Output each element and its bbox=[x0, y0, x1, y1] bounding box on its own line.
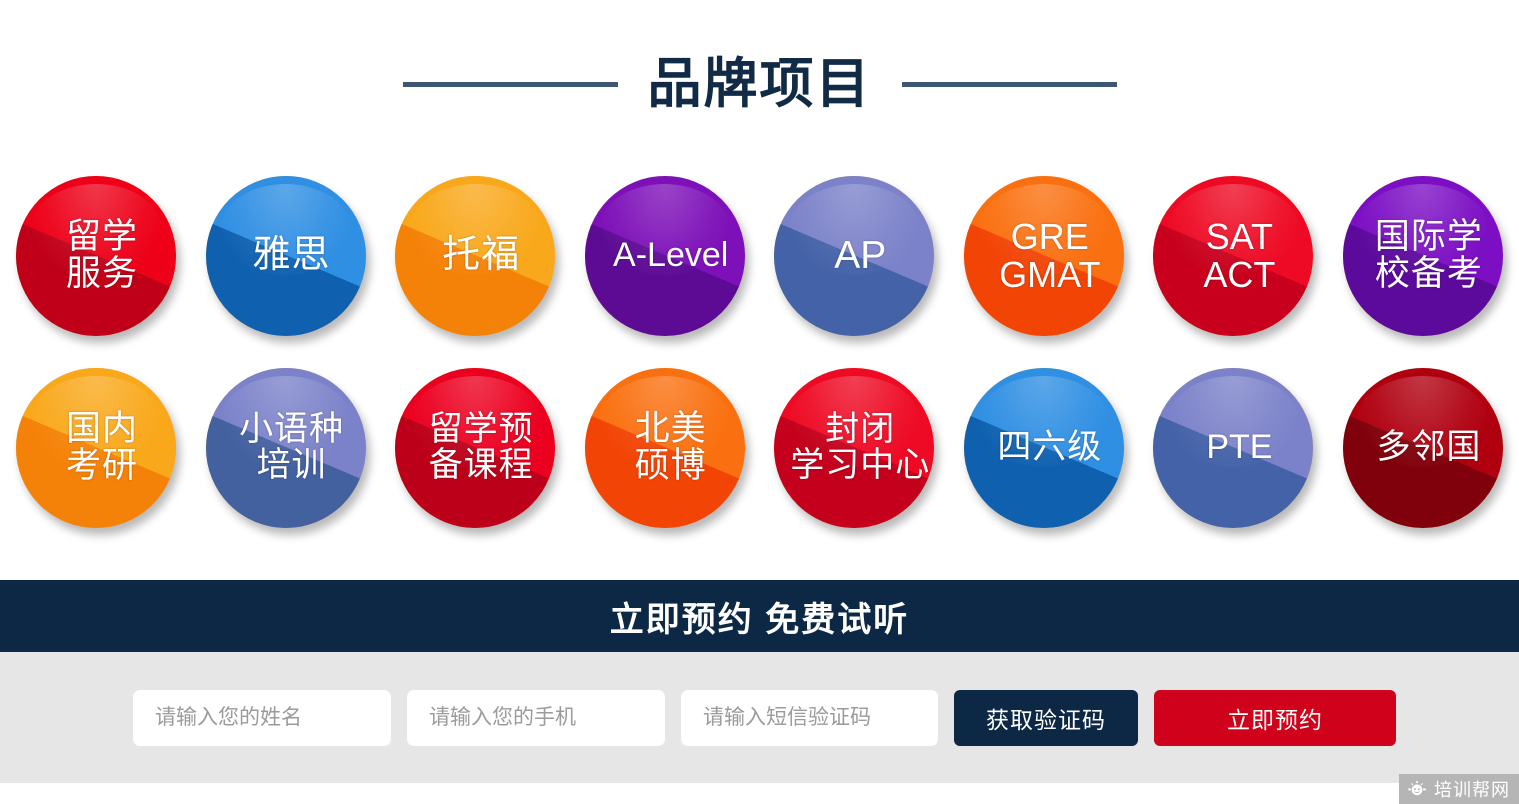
program-bubble-xiaoyuzhong-peixun[interactable]: 小语种培训 bbox=[206, 368, 366, 528]
program-label-line: 学习中心 bbox=[790, 448, 930, 484]
watermark-text: 培训帮网 bbox=[1434, 776, 1510, 802]
program-bubble-yasi[interactable]: 雅思 bbox=[206, 176, 366, 336]
program-cell: 国际学校备考 bbox=[1333, 166, 1513, 346]
program-label: PTE bbox=[1206, 430, 1272, 466]
program-bubble-si-liu-ji[interactable]: 四六级 bbox=[964, 368, 1124, 528]
program-label: 国内考研 bbox=[66, 411, 138, 485]
page-title: 品牌项目 bbox=[648, 57, 872, 111]
program-label-line: 封闭 bbox=[790, 412, 930, 448]
program-cell: 雅思 bbox=[196, 166, 376, 346]
program-cell: 留学服务 bbox=[6, 166, 186, 346]
program-cell: GREGMAT bbox=[954, 166, 1134, 346]
program-bubble-guonei-kaoyan[interactable]: 国内考研 bbox=[16, 368, 176, 528]
program-label-line: 小语种 bbox=[239, 412, 344, 448]
program-label: SATACT bbox=[1203, 218, 1275, 294]
program-cell: 封闭学习中心 bbox=[764, 358, 944, 538]
program-cell: 多邻国 bbox=[1333, 358, 1513, 538]
sun-face-icon bbox=[1407, 779, 1427, 799]
program-label-line: 备课程 bbox=[429, 448, 534, 484]
program-label: A-Level bbox=[613, 238, 728, 274]
program-label: 多邻国 bbox=[1376, 430, 1481, 466]
watermark: 培训帮网 bbox=[1399, 774, 1519, 804]
program-bubble-gre-gmat[interactable]: GREGMAT bbox=[964, 176, 1124, 336]
program-label-line: 国际学 bbox=[1375, 219, 1483, 256]
program-row-2: 国内考研小语种培训留学预备课程北美硕博封闭学习中心四六级PTE多邻国 bbox=[6, 352, 1513, 544]
program-label-line: 培训 bbox=[239, 448, 344, 484]
program-label-line: AP bbox=[834, 236, 886, 277]
program-label-line: 服务 bbox=[66, 256, 138, 293]
phone-input[interactable] bbox=[407, 690, 665, 746]
program-label: 托福 bbox=[442, 236, 520, 276]
program-row-1: 留学服务雅思托福A-LevelAPGREGMATSATACT国际学校备考 bbox=[6, 160, 1513, 352]
program-cell: AP bbox=[764, 166, 944, 346]
program-bubble-tuofu[interactable]: 托福 bbox=[395, 176, 555, 336]
program-cell: A-Level bbox=[575, 166, 755, 346]
program-grid: 留学服务雅思托福A-LevelAPGREGMATSATACT国际学校备考 国内考… bbox=[0, 160, 1519, 544]
program-bubble-fengbi-xuexi-zhongxin[interactable]: 封闭学习中心 bbox=[774, 368, 934, 528]
program-label: 北美硕博 bbox=[635, 411, 707, 485]
submit-booking-button[interactable]: 立即预约 bbox=[1154, 690, 1396, 746]
program-label-line: 多邻国 bbox=[1376, 430, 1481, 466]
program-label: 小语种培训 bbox=[239, 412, 344, 483]
program-cell: 留学预备课程 bbox=[385, 358, 565, 538]
cta-banner-title: 立即预约 免费试听 bbox=[610, 592, 909, 641]
program-label-line: PTE bbox=[1206, 430, 1272, 466]
program-bubble-pte[interactable]: PTE bbox=[1153, 368, 1313, 528]
program-bubble-duolingguo[interactable]: 多邻国 bbox=[1343, 368, 1503, 528]
program-cell: 国内考研 bbox=[6, 358, 186, 538]
program-bubble-guoji-xuexiao-beikao[interactable]: 国际学校备考 bbox=[1343, 176, 1503, 336]
program-cell: PTE bbox=[1143, 358, 1323, 538]
program-bubble-liuxue-fuwu[interactable]: 留学服务 bbox=[16, 176, 176, 336]
program-label: 雅思 bbox=[253, 236, 331, 276]
program-label-line: 留学 bbox=[66, 219, 138, 256]
program-bubble-liuxue-yubei-kecheng[interactable]: 留学预备课程 bbox=[395, 368, 555, 528]
name-input[interactable] bbox=[133, 690, 391, 746]
program-label-line: 硕博 bbox=[635, 448, 707, 485]
program-label-line: 留学预 bbox=[429, 412, 534, 448]
program-label: AP bbox=[834, 236, 886, 277]
program-cell: 四六级 bbox=[954, 358, 1134, 538]
program-cell: 北美硕博 bbox=[575, 358, 755, 538]
program-label-line: 考研 bbox=[66, 448, 138, 485]
program-bubble-ap[interactable]: AP bbox=[774, 176, 934, 336]
program-cell: SATACT bbox=[1143, 166, 1323, 346]
title-rule-left bbox=[403, 82, 618, 87]
program-label-line: 北美 bbox=[635, 411, 707, 448]
program-cell: 托福 bbox=[385, 166, 565, 346]
program-cell: 小语种培训 bbox=[196, 358, 376, 538]
booking-form: 获取验证码 立即预约 bbox=[0, 652, 1519, 783]
program-label: 四六级 bbox=[997, 430, 1102, 466]
sms-code-input[interactable] bbox=[681, 690, 938, 746]
program-bubble-sat-act[interactable]: SATACT bbox=[1153, 176, 1313, 336]
program-label-line: GRE bbox=[999, 218, 1100, 256]
program-label-line: 校备考 bbox=[1375, 256, 1483, 293]
program-bubble-a-level[interactable]: A-Level bbox=[585, 176, 745, 336]
program-label: 留学预备课程 bbox=[429, 412, 534, 483]
program-label-line: SAT bbox=[1203, 218, 1275, 256]
program-bubble-beimei-shuobo[interactable]: 北美硕博 bbox=[585, 368, 745, 528]
cta-banner: 立即预约 免费试听 bbox=[0, 580, 1519, 652]
program-label-line: A-Level bbox=[613, 238, 728, 274]
page-header: 品牌项目 bbox=[0, 0, 1519, 160]
program-label-line: GMAT bbox=[999, 256, 1100, 294]
program-label-line: 国内 bbox=[66, 411, 138, 448]
title-rule-right bbox=[902, 82, 1117, 87]
program-label: 封闭学习中心 bbox=[790, 412, 930, 483]
get-sms-code-button[interactable]: 获取验证码 bbox=[954, 690, 1138, 746]
program-label: 留学服务 bbox=[66, 219, 138, 293]
program-label-line: 雅思 bbox=[253, 236, 331, 276]
program-label-line: ACT bbox=[1203, 256, 1275, 294]
program-label-line: 托福 bbox=[442, 236, 520, 276]
program-label-line: 四六级 bbox=[997, 430, 1102, 466]
program-label: 国际学校备考 bbox=[1375, 219, 1483, 293]
program-label: GREGMAT bbox=[999, 218, 1100, 294]
